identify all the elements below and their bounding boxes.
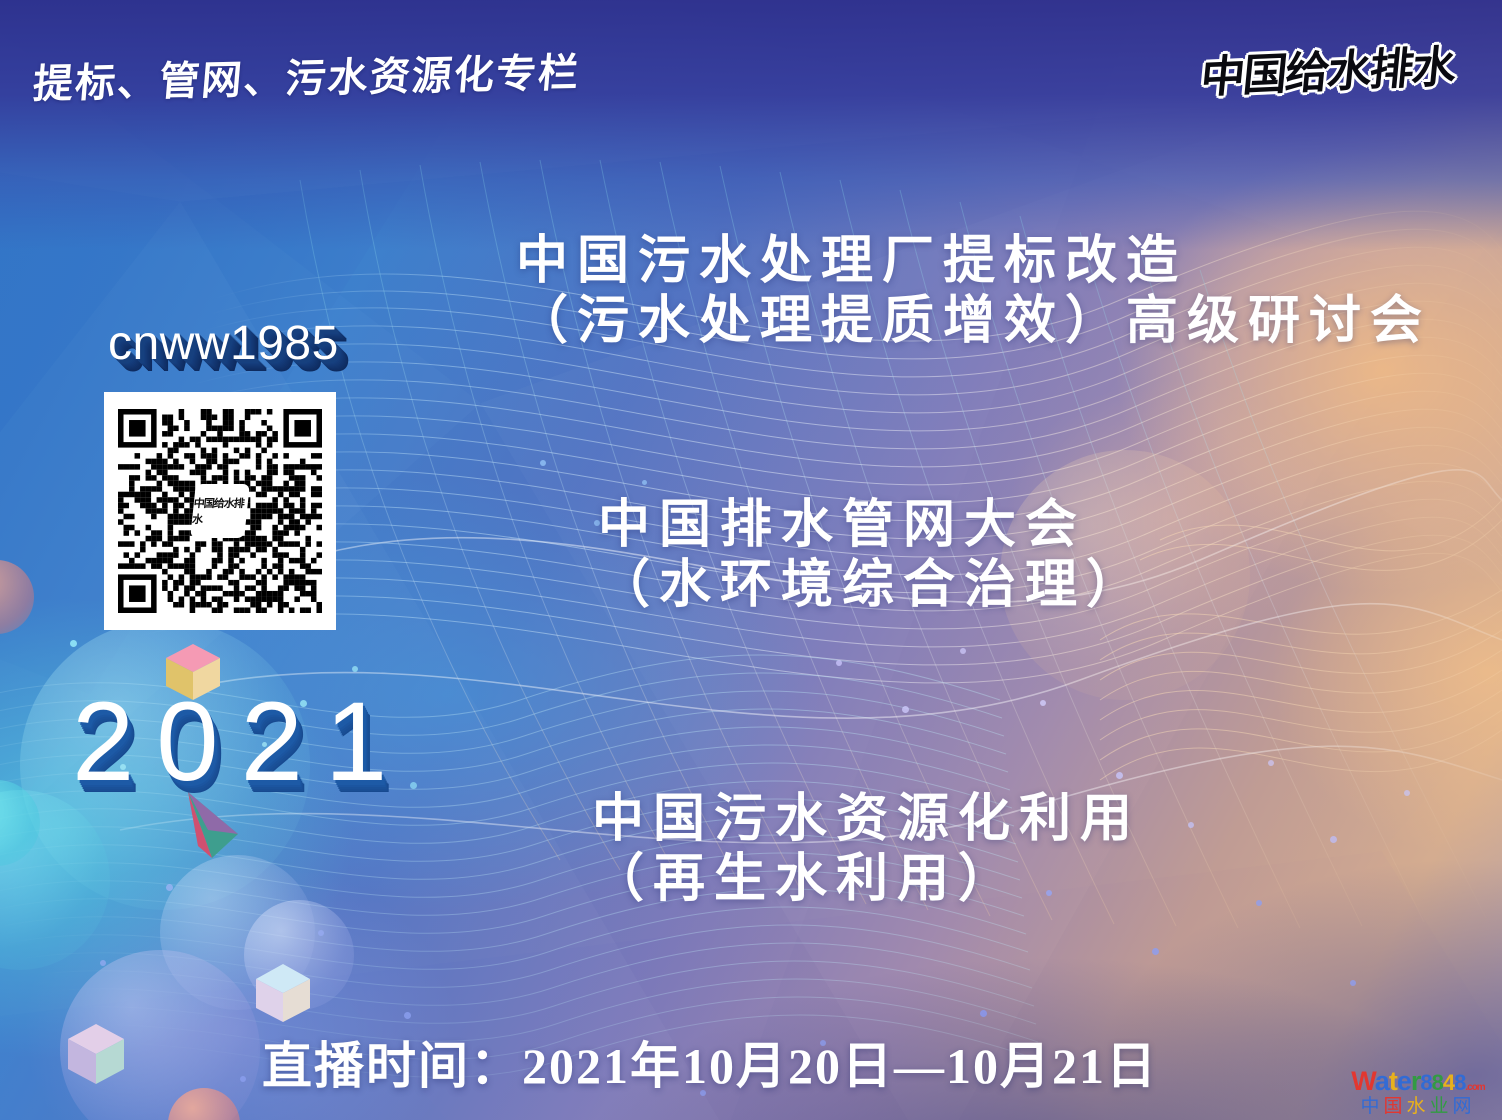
live-time-label: 直播时间：2021年10月20日—10月21日 (262, 1026, 1158, 1098)
watermark-letter-a: a (1375, 1066, 1389, 1096)
watermark-cn-3: 水 (1406, 1095, 1429, 1117)
watermark-num-8c: 8 (1454, 1070, 1465, 1095)
watermark-letter-e: e (1397, 1066, 1411, 1096)
watermark-brand: Water8848.com (1342, 1068, 1494, 1095)
watermark-num-8b: 8 (1432, 1070, 1443, 1095)
conference-2-subtitle: （水环境综合治理） (598, 556, 1147, 616)
watermark-cn-4: 业 (1430, 1095, 1453, 1117)
conference-2-title: 中国排水管网大会 (598, 496, 1147, 556)
qr-code[interactable]: 中国给水排水 (104, 392, 336, 630)
watermark-cn: 中国水业网 (1342, 1097, 1494, 1116)
event-poster: 提标、管网、污水资源化专栏 中国给水排水 cnww1985 中国给水排水 202… (0, 0, 1502, 1120)
watermark-number: 8848 (1420, 1070, 1465, 1095)
watermark-letter-w: W (1351, 1066, 1374, 1096)
watermark-cn-2: 国 (1383, 1095, 1406, 1117)
watermark-cn-1: 中 (1360, 1095, 1383, 1117)
conference-block-3: 中国污水资源化利用 （再生水利用） (592, 790, 1141, 911)
decor-cube-lavender (64, 1022, 128, 1088)
brand-logo: 中国给水排水 (1198, 31, 1457, 106)
conference-block-2: 中国排水管网大会 （水环境综合治理） (598, 496, 1147, 617)
conference-3-subtitle: （再生水利用） (592, 850, 1141, 910)
qr-code-canvas: 中国给水排水 (118, 406, 322, 616)
wechat-id-label: cnww1985 (108, 316, 339, 371)
conference-block-1: 中国污水处理厂提标改造 （污水处理提质增效）高级研讨会 (516, 232, 1431, 353)
page-title: 提标、管网、污水资源化专栏 (31, 40, 583, 109)
qr-center-logo: 中国给水排水 (190, 484, 250, 538)
site-watermark: Water8848.com 中国水业网 (1342, 1068, 1494, 1116)
conference-1-title: 中国污水处理厂提标改造 (516, 232, 1431, 292)
conference-1-subtitle: （污水处理提质增效）高级研讨会 (516, 292, 1431, 352)
conference-3-title: 中国污水资源化利用 (592, 790, 1141, 850)
year-label: 2021 (72, 686, 409, 798)
watermark-letter-t: t (1389, 1066, 1397, 1096)
watermark-num-8a: 8 (1420, 1070, 1431, 1095)
watermark-letter-r: r (1411, 1066, 1421, 1096)
watermark-cn-5: 网 (1453, 1095, 1476, 1117)
watermark-num-4: 4 (1443, 1070, 1454, 1095)
watermark-dotcom: .com (1465, 1082, 1484, 1093)
decor-cube-mint (252, 962, 314, 1026)
